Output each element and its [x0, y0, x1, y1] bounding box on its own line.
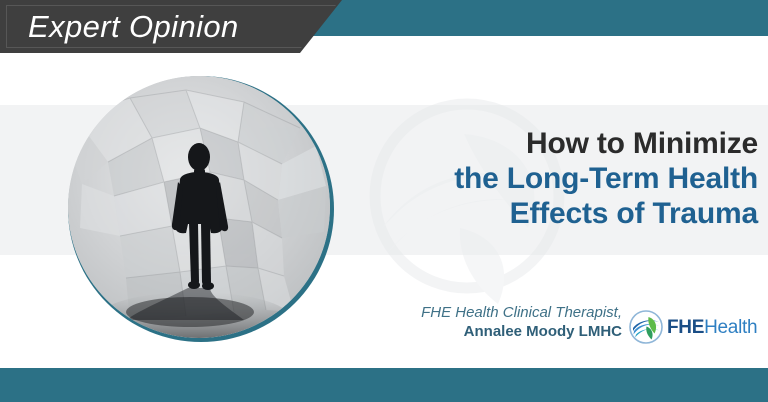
title-line-2: the Long-Term Health — [360, 161, 758, 196]
photo-image — [68, 76, 330, 338]
bottom-teal-bar — [0, 368, 768, 402]
logo-wordmark: FHEHealth — [667, 318, 757, 337]
byline: FHE Health Clinical Therapist, Annalee M… — [336, 303, 622, 341]
expert-opinion-label: Expert Opinion — [28, 6, 239, 48]
title-line-1: How to Minimize — [360, 126, 758, 161]
logo-word-health: Health — [704, 317, 757, 338]
logo-word-fhe: FHE — [667, 317, 704, 338]
fhe-wave-leaf-mark-icon — [628, 309, 664, 345]
expert-opinion-graphic: Expert Opinion How to Minimize the Long-… — [0, 0, 768, 402]
hero-photo — [68, 76, 334, 342]
byline-name: Annalee Moody LMHC — [336, 322, 622, 341]
page-title: How to Minimize the Long-Term Health Eff… — [360, 126, 758, 231]
byline-role: FHE Health Clinical Therapist, — [336, 303, 622, 322]
title-line-3: Effects of Trauma — [360, 196, 758, 231]
fhe-health-logo: FHEHealth — [628, 309, 757, 345]
